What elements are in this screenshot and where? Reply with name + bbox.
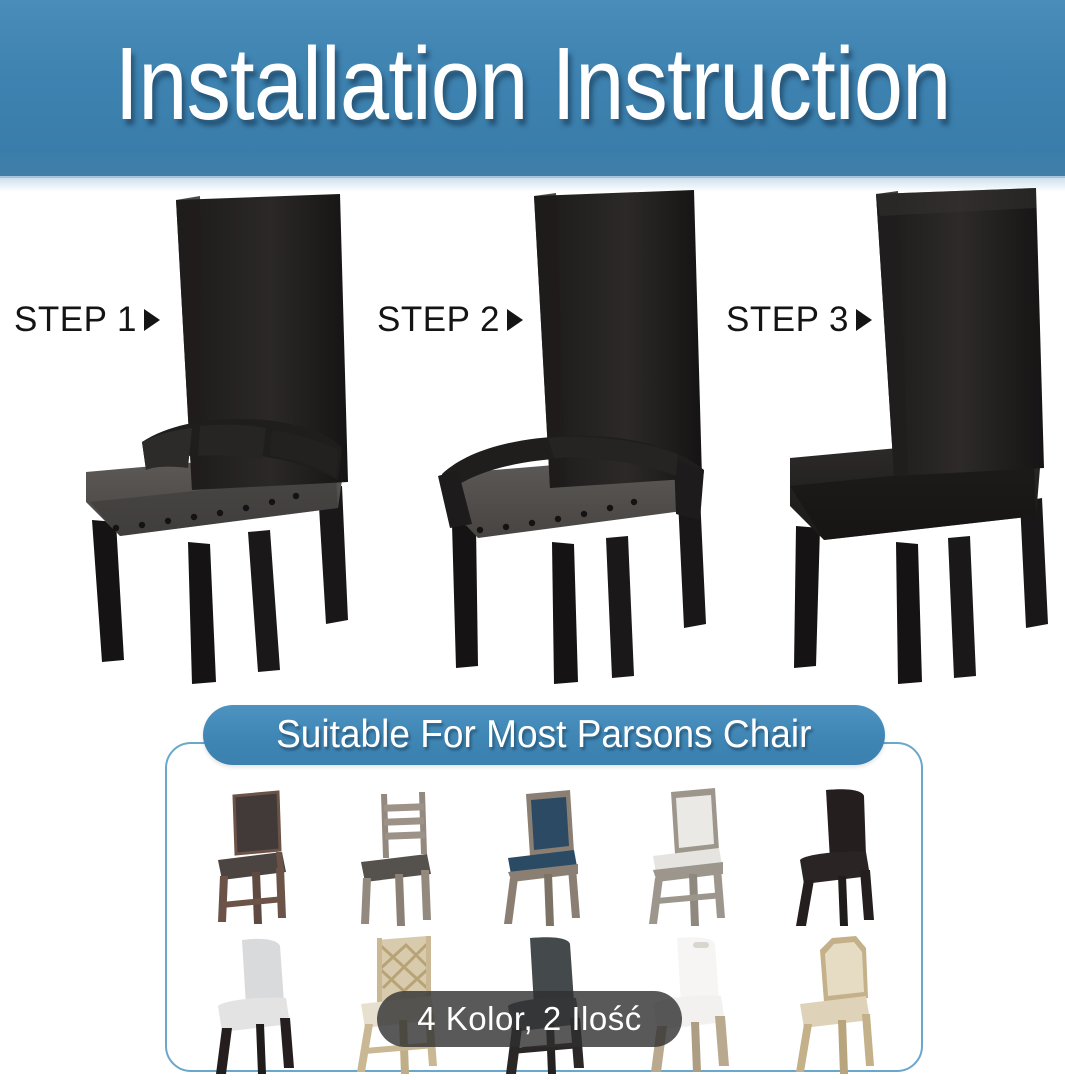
page-title: Installation Instruction <box>75 24 991 144</box>
chair-thumbnail[interactable] <box>182 780 327 928</box>
chair-image-step-2 <box>428 188 728 688</box>
variant-overlay-badge[interactable]: 4 Kolor, 2 Ilość <box>377 991 682 1047</box>
chair-thumbnail[interactable] <box>472 780 617 928</box>
chair-image-step-1 <box>80 190 380 690</box>
suitable-banner: Suitable For Most Parsons Chair <box>203 705 885 765</box>
suitable-banner-text: Suitable For Most Parsons Chair <box>276 713 811 757</box>
chair-thumbnail[interactable] <box>327 780 472 928</box>
chair-thumbnail[interactable] <box>761 780 906 928</box>
chair-thumbnail[interactable] <box>616 780 761 928</box>
chair-thumbnail[interactable] <box>182 928 327 1076</box>
header-banner: Installation Instruction <box>0 0 1065 178</box>
chair-thumbnail[interactable] <box>761 928 906 1076</box>
chair-image-step-3 <box>768 186 1065 686</box>
variant-overlay-text: 4 Kolor, 2 Ilość <box>417 1000 641 1038</box>
product-infographic: Installation Instruction STEP 1 STEP 2 S… <box>0 0 1065 1080</box>
